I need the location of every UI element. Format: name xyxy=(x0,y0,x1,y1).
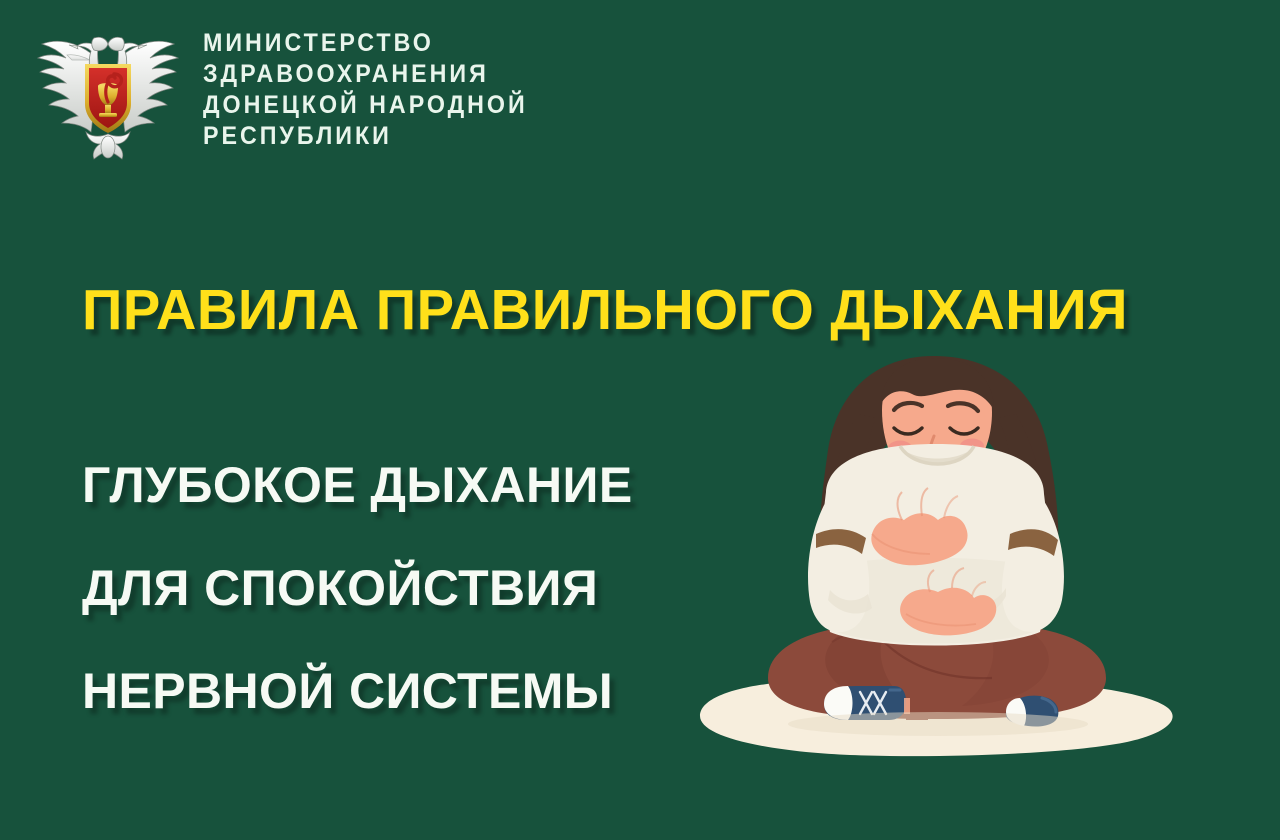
poster-headline: ПРАВИЛА ПРАВИЛЬНОГО ДЫХАНИЯ xyxy=(82,281,1128,339)
ministry-line-3: ДОНЕЦКОЙ НАРОДНОЙ xyxy=(203,90,724,121)
body-shadow xyxy=(788,712,1088,736)
woman-meditating-breathing-icon xyxy=(676,348,1196,788)
header: МИНИСТЕРСТВО ЗДРАВООХРАНЕНИЯ ДОНЕЦКОЙ НА… xyxy=(0,0,1280,190)
ministry-name: МИНИСТЕРСТВО ЗДРАВООХРАНЕНИЯ ДОНЕЦКОЙ НА… xyxy=(203,28,763,152)
ministry-line-4: РЕСПУБЛИКИ xyxy=(203,121,724,152)
poster-root: МИНИСТЕРСТВО ЗДРАВООХРАНЕНИЯ ДОНЕЦКОЙ НА… xyxy=(0,0,1280,840)
ministry-line-2: ЗДРАВООХРАНЕНИЯ xyxy=(203,59,724,90)
meditating-woman-illustration xyxy=(676,348,1196,788)
double-headed-eagle-emblem-icon xyxy=(28,16,188,168)
ministry-emblem xyxy=(28,16,188,168)
ministry-line-1: МИНИСТЕРСТВО xyxy=(203,28,724,59)
